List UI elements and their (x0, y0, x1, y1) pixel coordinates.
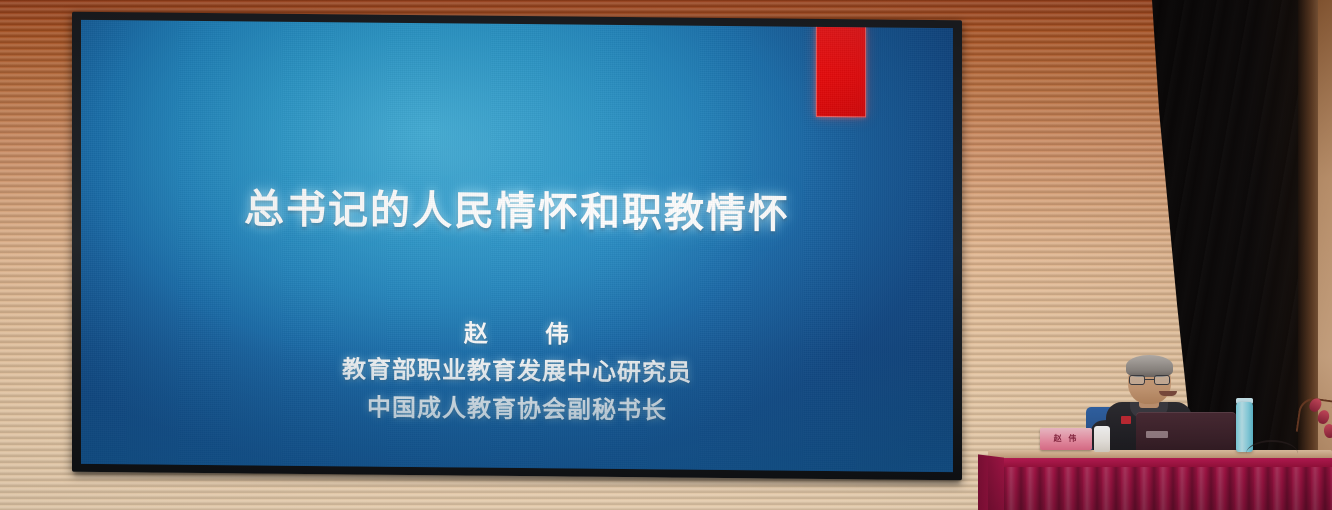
glasses-bridge (1145, 379, 1154, 380)
screen-bezel: 总书记的人民情怀和职教情怀 赵 伟 教育部职业教育发展中心研究员 中国成人教育协… (72, 12, 962, 481)
slide-speaker-name: 赵 伟 (81, 310, 953, 353)
laptop-logo (1146, 431, 1168, 438)
speaker-table-group: 赵 伟 (988, 340, 1332, 510)
table-skirt-band (988, 458, 1332, 467)
name-placard-text: 赵 伟 (1040, 433, 1092, 444)
paper-cup (1094, 426, 1110, 452)
flower-arrangement (1288, 392, 1332, 454)
speaker-hair (1126, 355, 1173, 377)
projection-screen: 总书记的人民情怀和职教情怀 赵 伟 教育部职业教育发展中心研究员 中国成人教育协… (72, 12, 962, 499)
glasses-right-lens (1154, 375, 1170, 385)
lapel-badge-icon (1121, 416, 1131, 424)
slide-affiliation-line-2: 中国成人教育协会副秘书长 (81, 385, 953, 428)
flower-bud (1323, 423, 1332, 439)
table-skirt-side-fold (978, 454, 1004, 510)
slide-affiliation-line-1: 教育部职业教育发展中心研究员 (81, 347, 953, 390)
glasses-left-lens (1129, 375, 1145, 385)
slide-surface: 总书记的人民情怀和职教情怀 赵 伟 教育部职业教育发展中心研究员 中国成人教育协… (81, 20, 953, 472)
lecture-hall-photo: 总书记的人民情怀和职教情怀 赵 伟 教育部职业教育发展中心研究员 中国成人教育协… (0, 0, 1332, 510)
slide-title: 总书记的人民情怀和职教情怀 (81, 175, 953, 241)
name-placard: 赵 伟 (1040, 428, 1092, 450)
eyeglasses-icon (1129, 375, 1170, 385)
red-flag-decoration (816, 25, 866, 117)
speaker-mouth (1159, 391, 1177, 396)
